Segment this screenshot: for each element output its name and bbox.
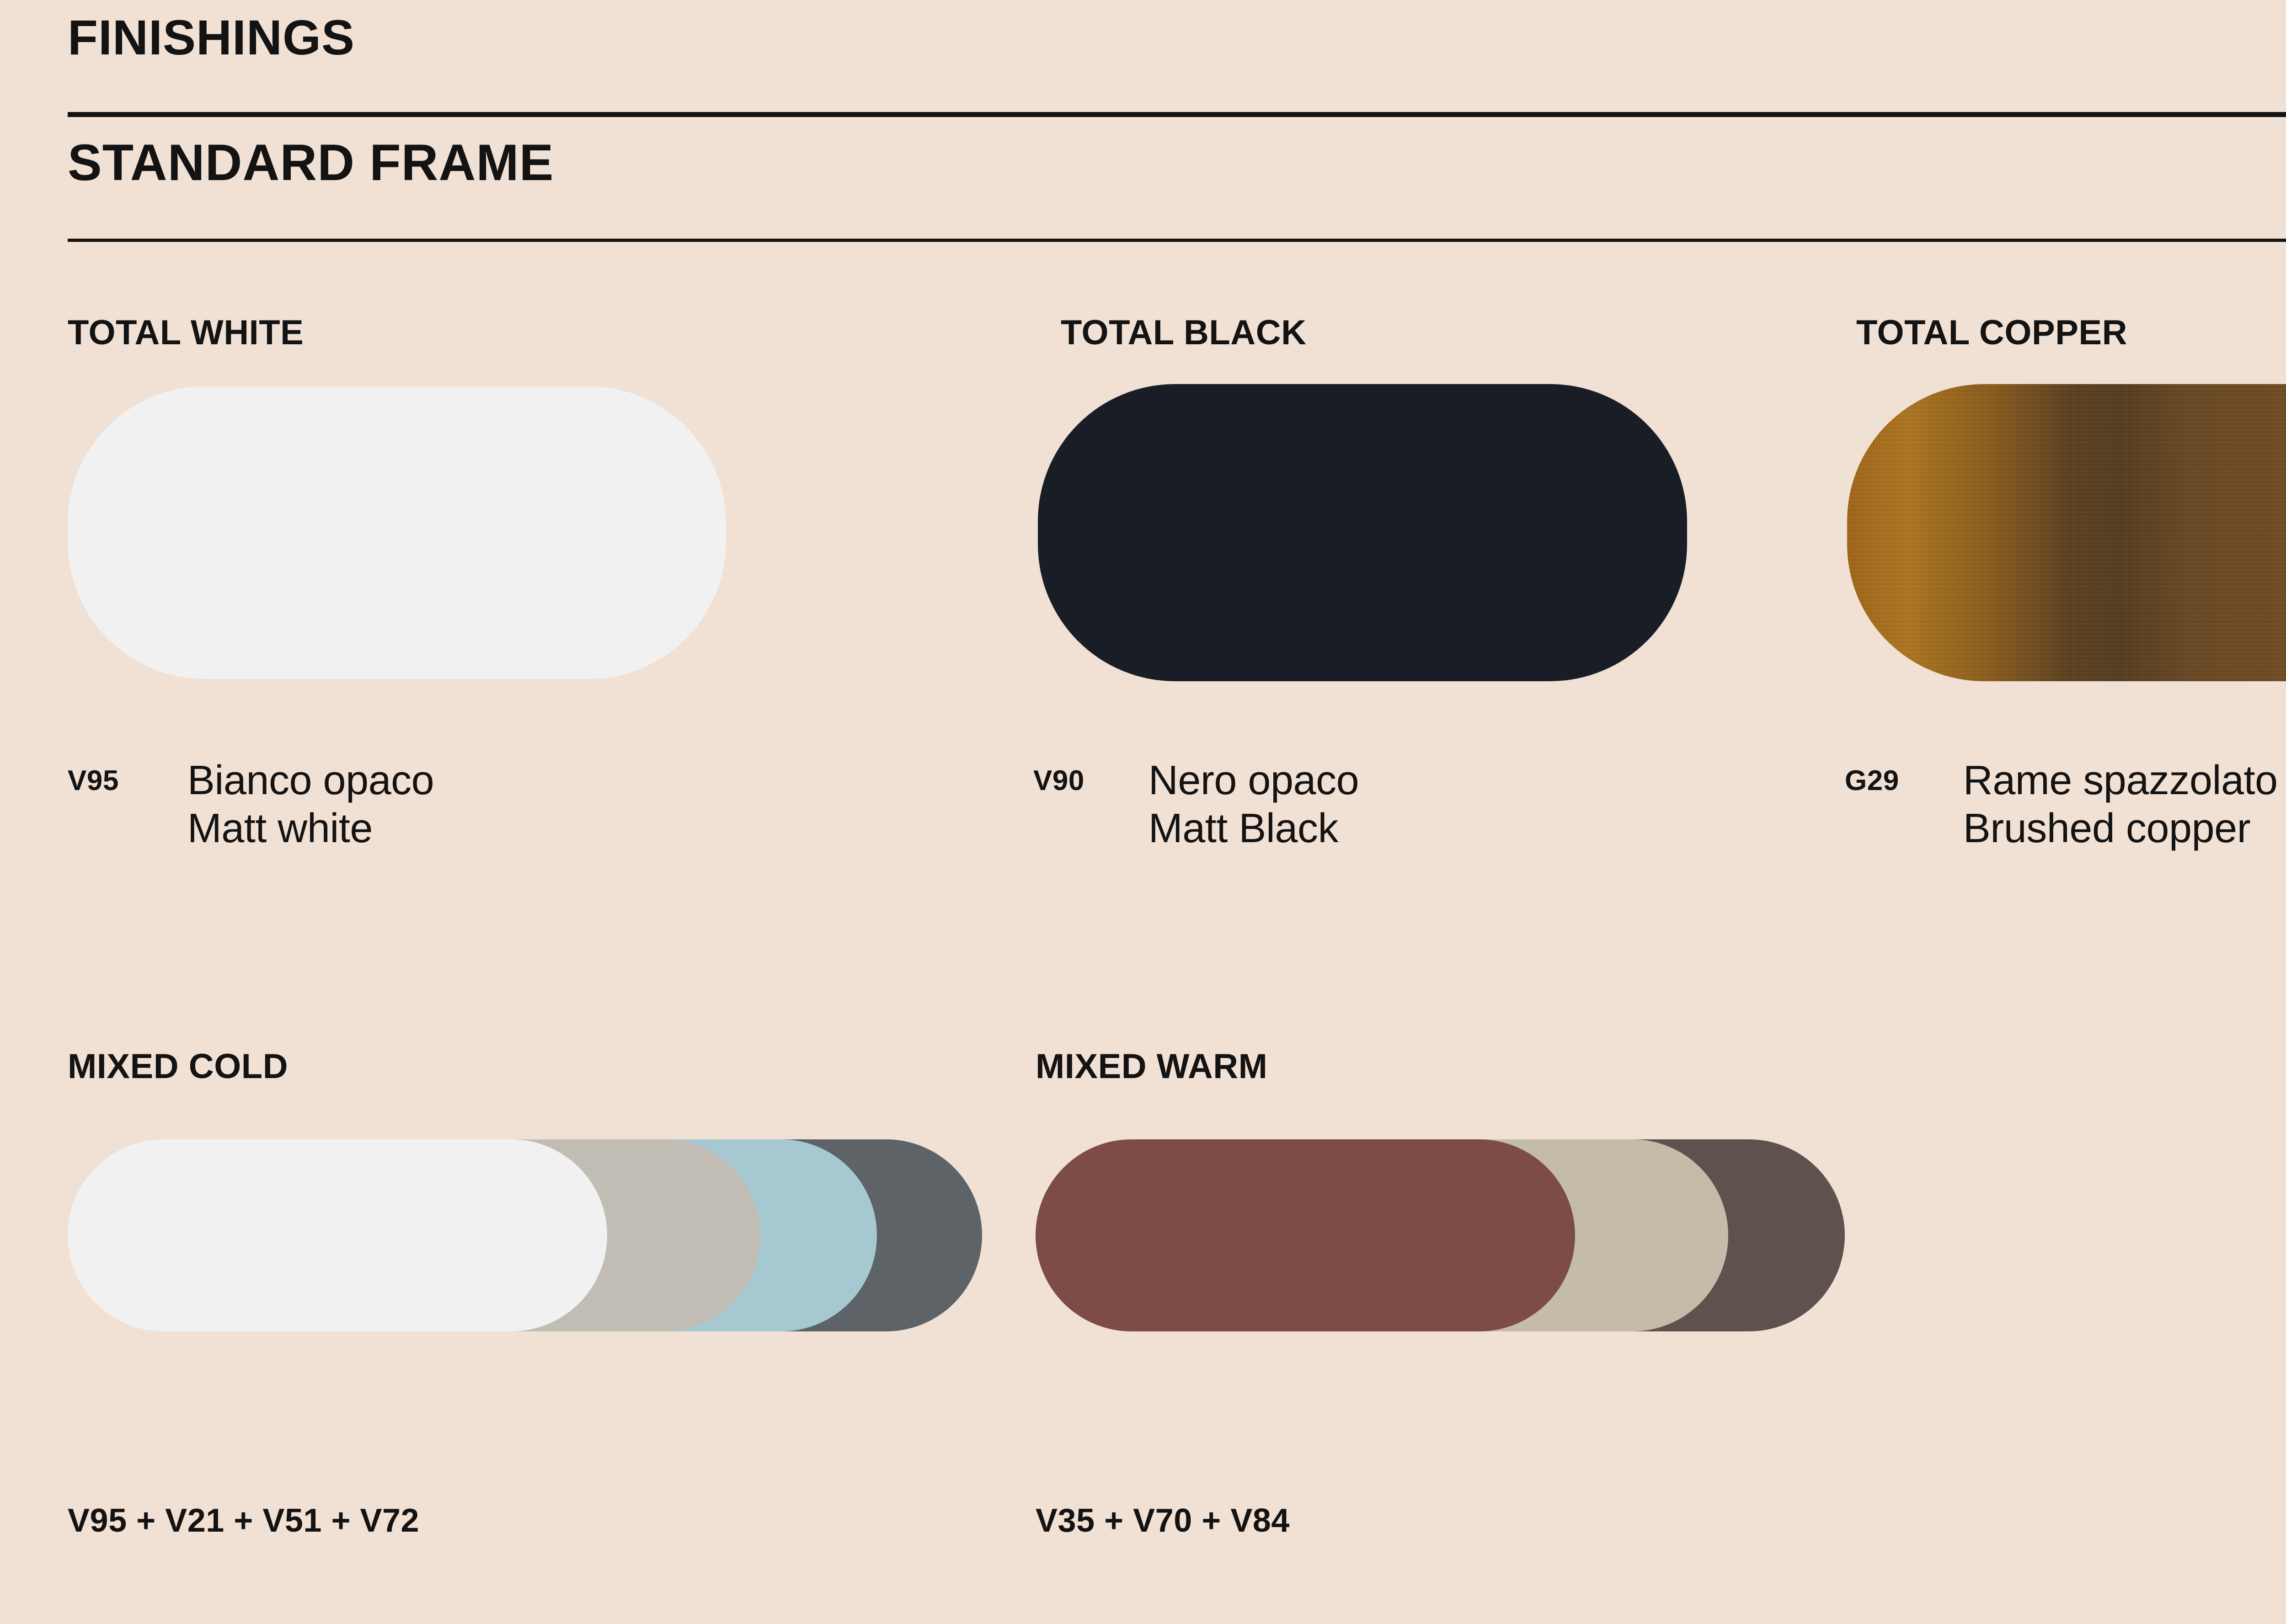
finish-names-total-copper: Rame spazzolato Brushed copper xyxy=(1899,757,2278,853)
caption-total-black: V90 Nero opaco Matt Black xyxy=(1033,757,1359,853)
finish-label-total-copper: TOTAL COPPER xyxy=(1856,315,2127,350)
swatch-stack-mixed-cold[interactable] xyxy=(68,1139,982,1331)
section-divider xyxy=(68,239,2286,242)
title-divider xyxy=(68,112,2286,117)
swatch-total-black[interactable] xyxy=(1038,384,1687,681)
swatch-layer-v95 xyxy=(68,1139,607,1331)
swatch-layer-v35 xyxy=(1036,1139,1575,1331)
finish-codes-mixed-warm: V35 + V70 + V84 xyxy=(1036,1504,1290,1537)
finish-codes-mixed-cold: V95 + V21 + V51 + V72 xyxy=(68,1504,419,1537)
swatch-stack-mixed-warm[interactable] xyxy=(1036,1139,1790,1331)
finishings-page: FINISHINGS STANDARD FRAME TOTAL WHITE V9… xyxy=(0,0,2286,1624)
finish-name-it-g29: Rame spazzolato xyxy=(1963,757,2278,805)
finish-names-total-black: Nero opaco Matt Black xyxy=(1084,757,1359,853)
finish-name-en-v95: Matt white xyxy=(187,805,434,853)
section-title-standard-frame: STANDARD FRAME xyxy=(68,137,554,188)
finish-names-total-white: Bianco opaco Matt white xyxy=(119,757,434,853)
page-title: FINISHINGS xyxy=(68,13,355,62)
finish-label-total-black: TOTAL BLACK xyxy=(1061,315,1306,350)
finish-code-g29: G29 xyxy=(1845,757,1899,795)
finish-label-total-white: TOTAL WHITE xyxy=(68,315,304,350)
finish-name-en-g29: Brushed copper xyxy=(1963,805,2278,853)
swatch-total-white[interactable] xyxy=(68,386,726,679)
finish-label-mixed-warm: MIXED WARM xyxy=(1036,1049,1267,1084)
finish-label-mixed-cold: MIXED COLD xyxy=(68,1049,288,1084)
swatch-total-copper[interactable] xyxy=(1847,384,2286,681)
caption-total-copper: G29 Rame spazzolato Brushed copper xyxy=(1845,757,2278,853)
finish-code-v95: V95 xyxy=(68,757,119,795)
finish-name-it-v95: Bianco opaco xyxy=(187,757,434,805)
finish-name-it-v90: Nero opaco xyxy=(1148,757,1359,805)
finish-code-v90: V90 xyxy=(1033,757,1084,795)
finish-name-en-v90: Matt Black xyxy=(1148,805,1359,853)
caption-total-white: V95 Bianco opaco Matt white xyxy=(68,757,434,853)
